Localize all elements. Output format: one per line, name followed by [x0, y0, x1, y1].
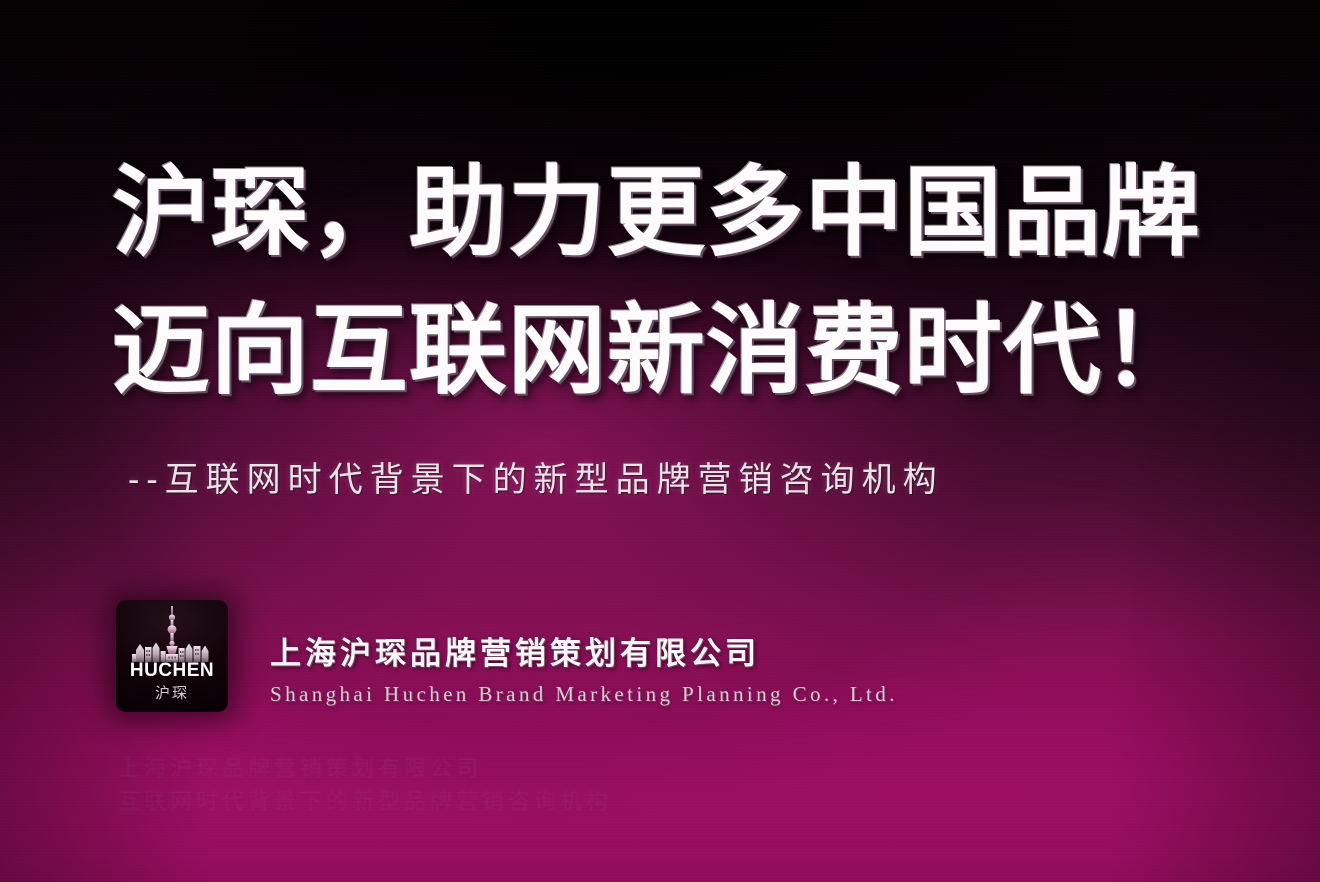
- company-logo: HUCHEN 沪琛: [116, 600, 228, 712]
- logo-chinese-name: 沪琛: [116, 682, 228, 703]
- presentation-slide: 沪琛，助力更多中国品牌 迈向互联网新消费时代！ --互联网时代背景下的新型品牌营…: [0, 0, 1320, 882]
- company-name-english: Shanghai Huchen Brand Marketing Planning…: [270, 682, 898, 707]
- company-name-block: 上海沪琛品牌营销策划有限公司 Shanghai Huchen Brand Mar…: [270, 600, 898, 707]
- company-name-chinese: 上海沪琛品牌营销策划有限公司: [270, 628, 898, 673]
- slide-content: 沪琛，助力更多中国品牌 迈向互联网新消费时代！ --互联网时代背景下的新型品牌营…: [0, 0, 1320, 882]
- signature-block: HUCHEN 沪琛 上海沪琛品牌营销策划有限公司 Shanghai Huchen…: [116, 600, 898, 712]
- headline-line-1: 沪琛，助力更多中国品牌: [112, 150, 1232, 278]
- subtitle-text: --互联网时代背景下的新型品牌营销咨询机构: [128, 452, 944, 501]
- ghost-watermark-line-1: 上海沪琛品牌营销策划有限公司: [118, 752, 858, 785]
- ghost-watermark-line-2: 互联网时代背景下的新型品牌营销咨询机构: [118, 785, 858, 818]
- ghost-watermark-block: 上海沪琛品牌营销策划有限公司 互联网时代背景下的新型品牌营销咨询机构: [118, 752, 858, 818]
- headline-line-2: 迈向互联网新消费时代！: [112, 288, 1232, 416]
- shanghai-skyline-icon: [116, 604, 228, 666]
- logo-wordmark: HUCHEN: [116, 660, 228, 682]
- headline-block: 沪琛，助力更多中国品牌 迈向互联网新消费时代！: [112, 150, 1232, 416]
